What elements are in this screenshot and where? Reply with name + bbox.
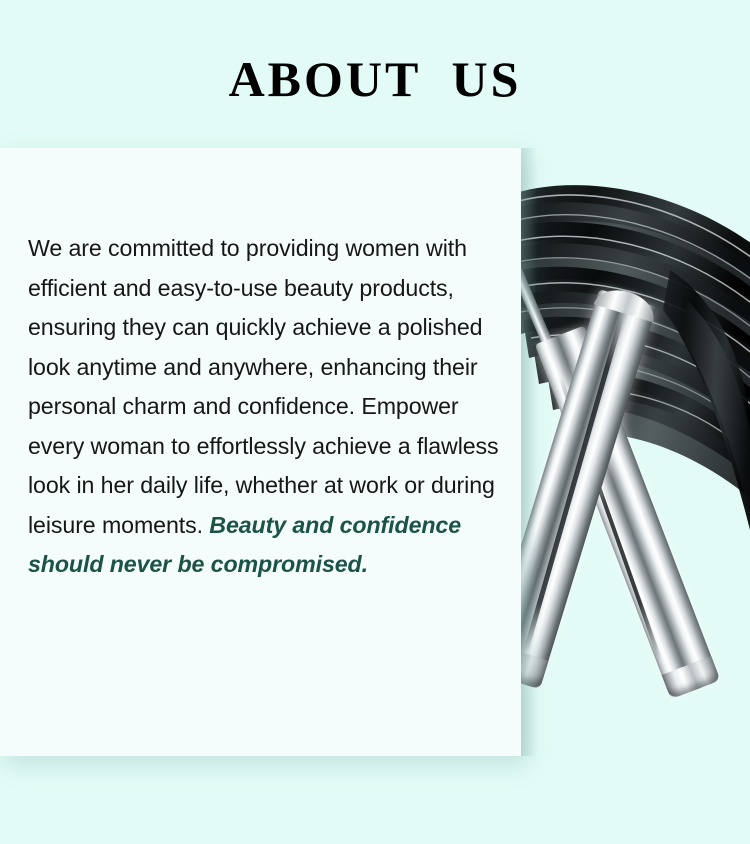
about-card: We are committed to providing women with… (0, 148, 521, 756)
page-title: ABOUT US (0, 52, 750, 107)
about-us-banner: ABOUT US (0, 0, 750, 844)
about-paragraph-plain: We are committed to providing women with… (28, 235, 499, 538)
about-paragraph: We are committed to providing women with… (28, 229, 506, 585)
